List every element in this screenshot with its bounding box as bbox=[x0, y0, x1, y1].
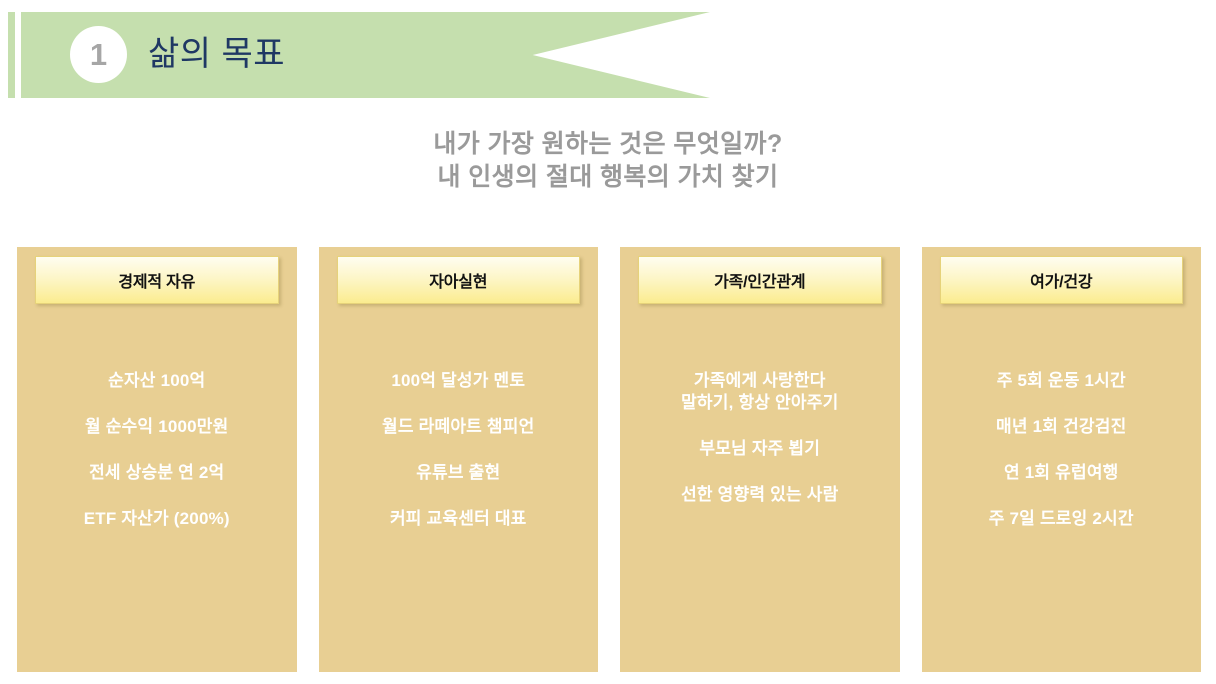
goal-item: 주 5회 운동 1시간 bbox=[997, 370, 1126, 392]
goal-item: 부모님 자주 뵙기 bbox=[699, 438, 820, 460]
goal-item: ETF 자산가 (200%) bbox=[84, 508, 230, 530]
goal-item-list: 가족에게 사랑한다 말하기, 항상 안아주기 부모님 자주 뵙기 선한 영향력 … bbox=[620, 370, 900, 506]
slide-header: 1 삶의 목표 bbox=[0, 0, 1216, 110]
accent-bar-inner bbox=[21, 12, 28, 98]
page-title: 삶의 목표 bbox=[148, 27, 285, 81]
goal-card-title: 경제적 자유 bbox=[118, 268, 195, 292]
goal-card[interactable]: 자아실현 100억 달성가 멘토 월드 라떼아트 챔피언 유튜브 출현 커피 교… bbox=[319, 247, 599, 672]
goal-item: 월드 라떼아트 챔피언 bbox=[382, 416, 534, 438]
accent-bar-outer bbox=[8, 12, 15, 98]
goal-item: 유튜브 출현 bbox=[416, 462, 500, 484]
goal-card[interactable]: 경제적 자유 순자산 100억 월 순수익 1000만원 전세 상승분 연 2억… bbox=[17, 247, 297, 672]
goal-item-list: 100억 달성가 멘토 월드 라떼아트 챔피언 유튜브 출현 커피 교육센터 대… bbox=[319, 370, 599, 530]
goal-item: 매년 1회 건강검진 bbox=[996, 416, 1126, 438]
goal-item-list: 순자산 100억 월 순수익 1000만원 전세 상승분 연 2억 ETF 자산… bbox=[17, 370, 297, 530]
goal-card-chip: 가족/인간관계 bbox=[638, 256, 882, 304]
goal-card-title: 가족/인간관계 bbox=[714, 268, 805, 292]
goal-cards-row: 경제적 자유 순자산 100억 월 순수익 1000만원 전세 상승분 연 2억… bbox=[17, 247, 1201, 672]
subtitle-line-2: 내 인생의 절대 행복의 가치 찾기 bbox=[0, 161, 1216, 194]
goal-card-title: 자아실현 bbox=[429, 268, 487, 292]
goal-card[interactable]: 가족/인간관계 가족에게 사랑한다 말하기, 항상 안아주기 부모님 자주 뵙기… bbox=[620, 247, 900, 672]
goal-item: 주 7일 드로잉 2시간 bbox=[989, 508, 1134, 530]
goal-item: 100억 달성가 멘토 bbox=[391, 370, 525, 392]
goal-item: 연 1회 유럽여행 bbox=[1004, 462, 1119, 484]
goal-item-list: 주 5회 운동 1시간 매년 1회 건강검진 연 1회 유럽여행 주 7일 드로… bbox=[922, 370, 1202, 530]
goal-card-title: 여가/건강 bbox=[1030, 268, 1092, 292]
step-number-circle: 1 bbox=[70, 26, 127, 83]
goal-item: 커피 교육센터 대표 bbox=[390, 508, 527, 530]
goal-card-chip: 경제적 자유 bbox=[35, 256, 279, 304]
goal-card[interactable]: 여가/건강 주 5회 운동 1시간 매년 1회 건강검진 연 1회 유럽여행 주… bbox=[922, 247, 1202, 672]
goal-card-chip: 여가/건강 bbox=[940, 256, 1184, 304]
goal-item: 순자산 100억 bbox=[108, 370, 205, 392]
goal-item: 선한 영향력 있는 사람 bbox=[681, 484, 838, 506]
subtitle-line-1: 내가 가장 원하는 것은 무엇일까? bbox=[0, 128, 1216, 161]
goal-item: 가족에게 사랑한다 말하기, 항상 안아주기 bbox=[681, 370, 838, 414]
ribbon-banner-shape bbox=[28, 12, 710, 98]
step-number-label: 1 bbox=[90, 39, 107, 70]
subtitle: 내가 가장 원하는 것은 무엇일까? 내 인생의 절대 행복의 가치 찾기 bbox=[0, 128, 1216, 194]
goal-card-chip: 자아실현 bbox=[337, 256, 581, 304]
goal-item: 월 순수익 1000만원 bbox=[85, 416, 229, 438]
goal-item: 전세 상승분 연 2억 bbox=[89, 462, 224, 484]
